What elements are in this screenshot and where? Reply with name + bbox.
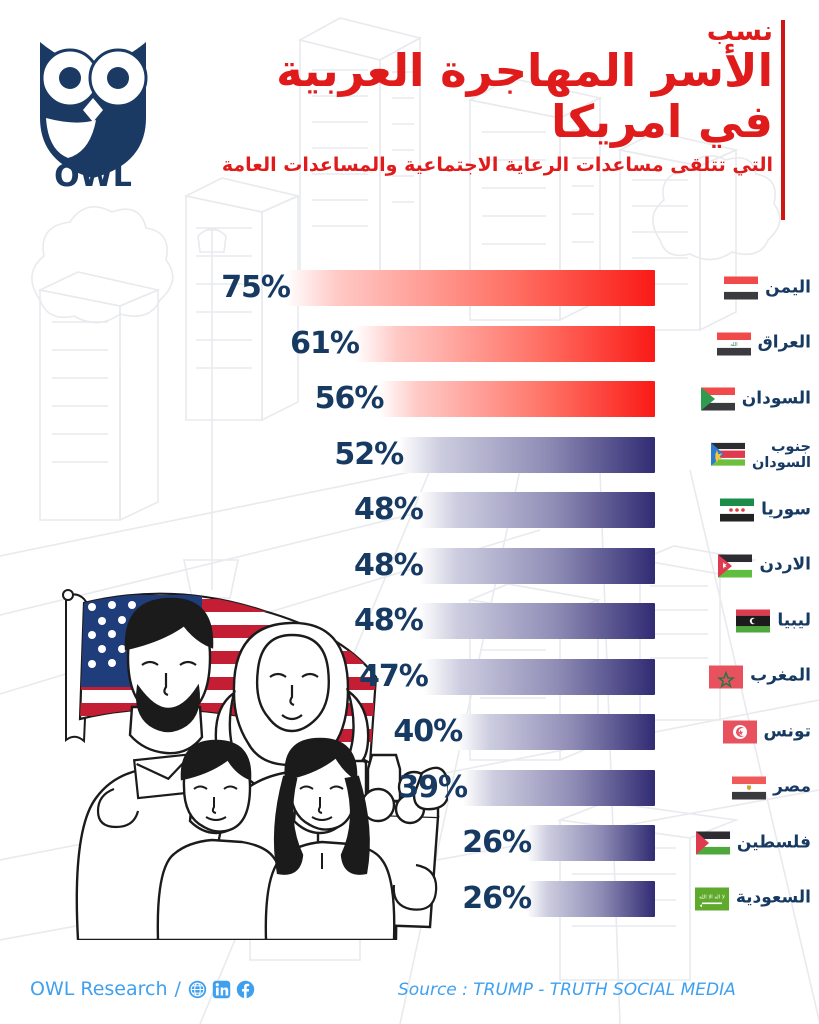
egypt-flag — [732, 776, 766, 799]
footer: OWL Research / Source : TRUMP - TRUTH SO… — [0, 960, 819, 1024]
title-line-2: في امريكا — [222, 97, 773, 147]
brand-name: OWL Research — [30, 978, 168, 1000]
bar-chart: 75%اليمن61%العراقالله56%السودان52%جنوبال… — [0, 270, 819, 940]
bar-track — [163, 437, 655, 473]
country-name: المغرب — [750, 667, 811, 686]
yemen-flag — [724, 277, 758, 300]
title-line-1: الأسر المهاجرة العربية — [222, 46, 773, 96]
country-label: فلسطين — [696, 832, 811, 855]
bar-track — [163, 381, 655, 417]
chart-row: 47%المغرب — [0, 659, 819, 695]
country-label: المغرب — [709, 665, 811, 688]
morocco-flag — [709, 665, 743, 688]
bar-saudi-arabia[interactable] — [527, 881, 655, 917]
bar-syria[interactable] — [419, 492, 655, 528]
bar-track — [163, 326, 655, 362]
country-name: جنوبالسودان — [752, 438, 811, 470]
south-sudan-flag — [711, 443, 745, 466]
chart-row: 48%سوريا — [0, 492, 819, 528]
title-kicker: نسب — [222, 18, 773, 46]
bar-iraq[interactable] — [355, 326, 655, 362]
linkedin-icon[interactable] — [212, 980, 231, 999]
country-name: السعودية — [736, 889, 811, 908]
bar-value-label: 26% — [462, 880, 531, 915]
bar-value-label: 48% — [354, 603, 423, 638]
bar-value-label: 47% — [359, 658, 428, 693]
bar-value-label: 39% — [398, 769, 467, 804]
palestine-flag — [696, 832, 730, 855]
saudi-arabia-flag: لا اله الا الله — [695, 887, 729, 910]
facebook-icon[interactable] — [236, 980, 255, 999]
country-name: اليمن — [765, 278, 811, 297]
chart-row: 52%جنوبالسودان — [0, 437, 819, 473]
bar-libya[interactable] — [419, 603, 655, 639]
brand-separator: / — [175, 978, 181, 1000]
country-label: السعوديةلا اله الا الله — [695, 887, 811, 910]
chart-row: 26%السعوديةلا اله الا الله — [0, 881, 819, 917]
bar-value-label: 52% — [334, 436, 403, 471]
bar-jordan[interactable] — [419, 548, 655, 584]
bar-tunisia[interactable] — [458, 714, 655, 750]
country-name: العراق — [758, 334, 811, 353]
country-name: تونس — [764, 722, 811, 741]
owl-wordmark: OWL — [54, 159, 132, 194]
jordan-flag — [718, 554, 752, 577]
chart-row: 56%السودان — [0, 381, 819, 417]
country-label: مصر — [732, 776, 811, 799]
owl-logo: OWL — [18, 14, 168, 194]
bar-value-label: 61% — [290, 325, 359, 360]
bar-track — [163, 825, 655, 861]
bar-value-label: 75% — [221, 270, 290, 305]
bar-value-label: 40% — [393, 714, 462, 749]
title-accent-rule — [781, 20, 785, 220]
chart-row: 75%اليمن — [0, 270, 819, 306]
brand-credit: OWL Research / — [30, 978, 255, 1000]
bar-sudan[interactable] — [379, 381, 655, 417]
bar-value-label: 26% — [462, 825, 531, 860]
chart-row: 48%الاردن — [0, 548, 819, 584]
svg-text:لا اله الا الله: لا اله الا الله — [699, 894, 725, 900]
header: OWL نسب الأسر المهاجرة العربية في امريكا… — [0, 0, 819, 240]
svg-text:الله: الله — [730, 341, 737, 347]
bar-value-label: 48% — [354, 492, 423, 527]
bar-egypt[interactable] — [463, 770, 655, 806]
bar-value-label: 48% — [354, 547, 423, 582]
tunisia-flag — [723, 721, 757, 744]
chart-row: 61%العراقالله — [0, 326, 819, 362]
bar-track — [163, 881, 655, 917]
country-name: مصر — [773, 778, 811, 797]
country-label: العراقالله — [717, 332, 811, 355]
country-label: السودان — [701, 388, 811, 411]
syria-flag — [720, 499, 754, 522]
globe-icon[interactable] — [188, 980, 207, 999]
source-credit: Source : TRUMP - TRUTH SOCIAL MEDIA — [398, 980, 736, 1000]
iraq-flag: الله — [717, 332, 751, 355]
country-label: تونس — [723, 721, 811, 744]
chart-row: 39%مصر — [0, 770, 819, 806]
bar-morocco[interactable] — [424, 659, 655, 695]
country-name: ليبيا — [777, 611, 811, 630]
bar-yemen[interactable] — [286, 270, 655, 306]
bar-south-sudan[interactable] — [399, 437, 655, 473]
country-label: الاردن — [718, 554, 811, 577]
sudan-flag — [701, 388, 735, 411]
country-name: فلسطين — [737, 833, 811, 852]
country-name: سوريا — [761, 500, 811, 519]
country-label: سوريا — [720, 499, 811, 522]
title-block: نسب الأسر المهاجرة العربية في امريكا الت… — [222, 18, 773, 178]
country-label: اليمن — [724, 277, 811, 300]
country-name: السودان — [742, 389, 811, 408]
chart-row: 40%تونس — [0, 714, 819, 750]
chart-row: 26%فلسطين — [0, 825, 819, 861]
libya-flag — [736, 610, 770, 633]
bar-palestine[interactable] — [527, 825, 655, 861]
chart-row: 48%ليبيا — [0, 603, 819, 639]
country-label: ليبيا — [736, 610, 811, 633]
bar-value-label: 56% — [315, 381, 384, 416]
country-label: جنوبالسودان — [711, 438, 811, 470]
subtitle: التي تتلقى مساعدات الرعاية الاجتماعية وا… — [222, 153, 773, 178]
country-name: الاردن — [759, 556, 811, 575]
